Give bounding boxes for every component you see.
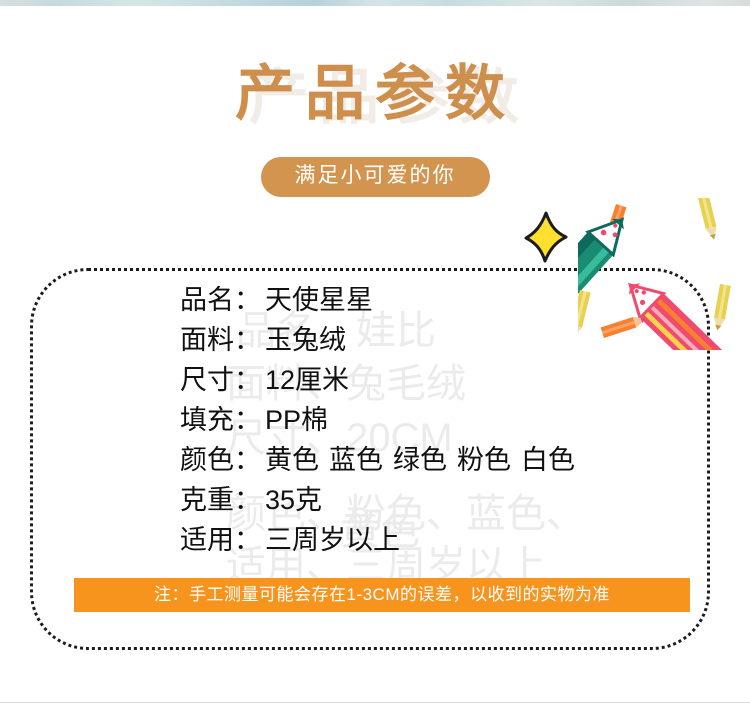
star-diamond-icon: [524, 211, 568, 263]
spec-row: 适用：三周岁以上: [180, 523, 700, 563]
measurement-note: 注：手工测量可能会存在1-3CM的误差，以收到的实物为准: [74, 578, 690, 612]
spec-row: 填充：PP棉: [180, 403, 700, 443]
spec-value: 35克: [265, 483, 322, 517]
spec-value: 三周岁以上: [265, 523, 400, 557]
spec-value: 玉兔绒: [265, 323, 346, 357]
spec-label: 尺寸：: [180, 363, 265, 397]
spec-value: 黄色蓝色绿色粉色白色: [265, 443, 585, 477]
color-option: 绿色: [393, 445, 447, 475]
spec-value: PP棉: [265, 403, 328, 437]
spec-list: 品名：天使星星面料：玉兔绒尺寸：12厘米填充：PP棉颜色：黄色蓝色绿色粉色白色克…: [180, 283, 700, 563]
color-option: 白色: [521, 445, 575, 475]
spec-row: 尺寸：12厘米: [180, 363, 700, 403]
color-option: 蓝色: [329, 445, 383, 475]
spec-row: 颜色：黄色蓝色绿色粉色白色: [180, 443, 700, 483]
spec-row: 品名：天使星星: [180, 283, 700, 323]
page-title: 产品参数: [0, 58, 750, 130]
spec-label: 克重：: [180, 483, 265, 517]
spec-value: 12厘米: [265, 363, 349, 397]
spec-label: 面料：: [180, 323, 265, 357]
spec-row: 面料：玉兔绒: [180, 323, 700, 363]
spec-label: 颜色：: [180, 443, 265, 477]
spec-label: 填充：: [180, 403, 265, 437]
product-spec-page: 产品参数 产品参数 满足小可爱的你 品名、娃比 面料、兔毛绒 尺寸、20CM 颜…: [0, 0, 750, 712]
spec-label: 适用：: [180, 523, 265, 557]
bottom-separator: [0, 702, 750, 703]
spec-label: 品名：: [180, 283, 265, 317]
spec-row: 克重：35克: [180, 483, 700, 523]
subtitle-pill-wrap: 满足小可爱的你: [0, 157, 750, 197]
spec-value: 天使星星: [265, 283, 373, 317]
subtitle-pill: 满足小可爱的你: [261, 157, 490, 197]
top-image-sliver: [0, 0, 750, 6]
color-option: 粉色: [457, 445, 511, 475]
color-option: 黄色: [265, 445, 319, 475]
